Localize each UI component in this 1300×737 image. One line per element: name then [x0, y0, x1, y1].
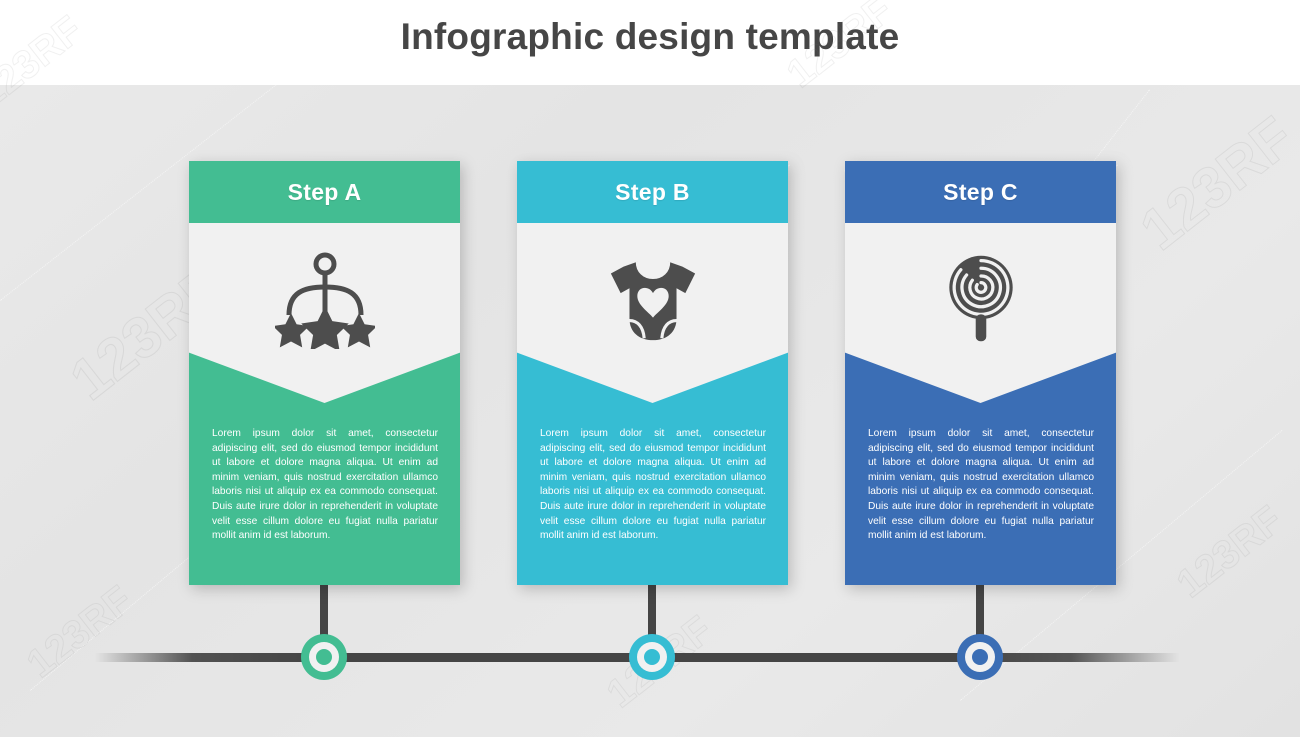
- marker-inner-ring: [965, 642, 995, 672]
- watermark-text: 123RF: [1128, 104, 1300, 264]
- lollipop-icon: [929, 247, 1033, 351]
- marker-dot: [316, 649, 332, 665]
- baby-bodysuit-icon: [601, 247, 705, 351]
- step-card-b-body: Lorem ipsum dolor sit amet, consectetur …: [517, 223, 788, 585]
- step-card-c[interactable]: Step C Lore: [845, 161, 1116, 585]
- marker-dot: [972, 649, 988, 665]
- marker-inner-ring: [637, 642, 667, 672]
- timeline-marker-b[interactable]: [629, 634, 675, 680]
- infographic-stage: Infographic design template 123RF 123RF …: [0, 0, 1300, 737]
- step-card-b-header: Step B: [517, 161, 788, 223]
- watermark-text: 123RF: [1169, 498, 1291, 607]
- watermark-text: 123RF: [19, 578, 141, 687]
- step-card-a[interactable]: Step A Lorem ipsum dolor sit amet, conse…: [189, 161, 460, 585]
- step-card-a-text: Lorem ipsum dolor sit amet, consectetur …: [212, 427, 438, 544]
- timeline-marker-a[interactable]: [301, 634, 347, 680]
- step-card-c-body: Lorem ipsum dolor sit amet, consectetur …: [845, 223, 1116, 585]
- step-card-a-body: Lorem ipsum dolor sit amet, consectetur …: [189, 223, 460, 585]
- marker-dot: [644, 649, 660, 665]
- step-card-b-label: Step B: [615, 179, 690, 206]
- page-title: Infographic design template: [0, 16, 1300, 58]
- step-card-c-label: Step C: [943, 179, 1018, 206]
- step-card-b[interactable]: Step B Lorem ipsum dolor sit amet, conse…: [517, 161, 788, 585]
- step-card-a-header: Step A: [189, 161, 460, 223]
- step-card-b-text: Lorem ipsum dolor sit amet, consectetur …: [540, 427, 766, 544]
- step-card-c-text: Lorem ipsum dolor sit amet, consectetur …: [868, 427, 1094, 544]
- timeline-marker-c[interactable]: [957, 634, 1003, 680]
- baby-mobile-icon: [273, 247, 377, 351]
- step-card-c-header: Step C: [845, 161, 1116, 223]
- step-card-a-label: Step A: [288, 179, 362, 206]
- marker-inner-ring: [309, 642, 339, 672]
